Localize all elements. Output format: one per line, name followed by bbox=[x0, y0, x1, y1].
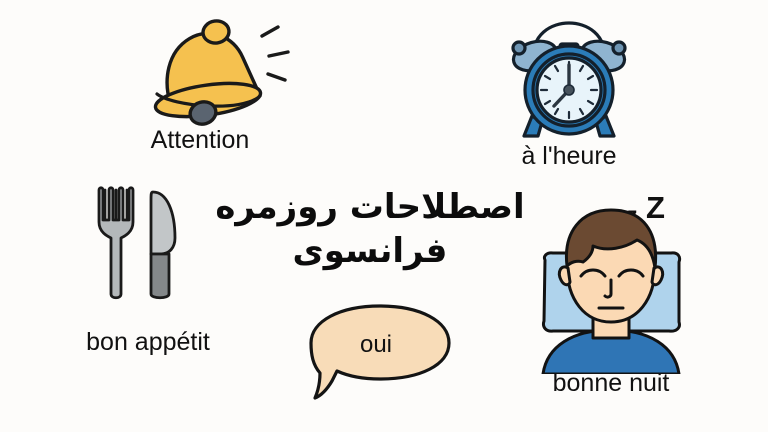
page-title: اصطلاحات روزمره فرانسوی bbox=[214, 186, 526, 273]
poster-canvas: Attention bbox=[0, 0, 768, 432]
caption-bon-appetit: bon appétit bbox=[0, 330, 296, 355]
bon-appetit-illustration bbox=[93, 186, 189, 304]
a-lheure-illustration bbox=[508, 18, 630, 144]
bonne-nuit-illustration: z Z z bbox=[521, 196, 701, 374]
caption-a-lheure: à l'heure bbox=[394, 144, 744, 169]
caption-oui: oui bbox=[306, 331, 446, 359]
fork-knife-icon bbox=[93, 186, 189, 304]
page-title-line-1: اصطلاحات روزمره bbox=[214, 186, 526, 230]
svg-text:Z: Z bbox=[646, 196, 665, 225]
attention-illustration bbox=[132, 14, 292, 132]
caption-attention: Attention bbox=[0, 128, 400, 153]
sleeping-person-icon: z Z z bbox=[521, 196, 701, 374]
caption-bonne-nuit: bonne nuit bbox=[466, 371, 756, 396]
page-title-line-2: فرانسوی bbox=[214, 230, 526, 274]
bell-icon bbox=[132, 14, 292, 132]
alarm-clock-icon bbox=[508, 18, 630, 144]
